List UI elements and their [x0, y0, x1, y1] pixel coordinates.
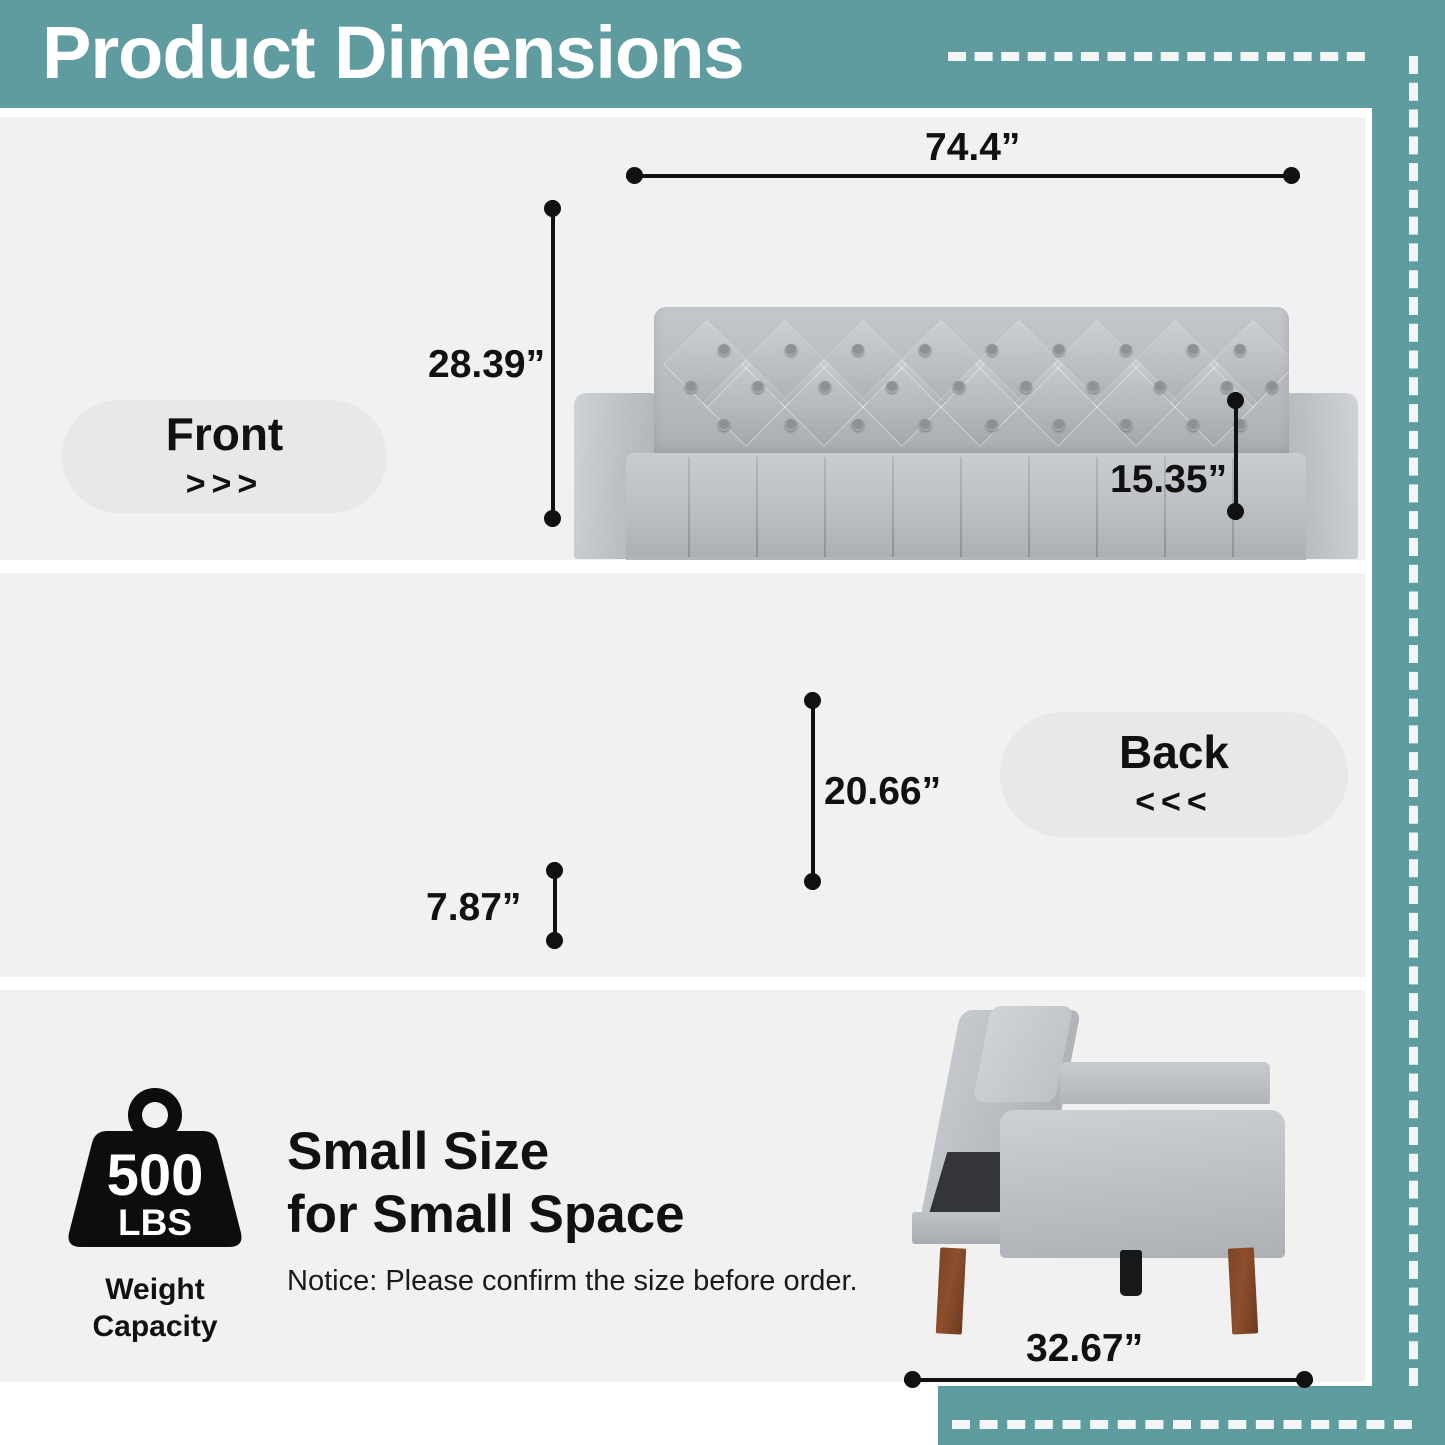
- weight-caption-line1: Weight: [55, 1271, 255, 1308]
- dimension-label-folded-height: 20.66”: [824, 770, 941, 814]
- weight-icon: 500 LBS: [55, 1085, 255, 1260]
- chevron-left-icon: <<<: [1135, 781, 1213, 823]
- sofa-side-back-rail: [1060, 1062, 1270, 1104]
- weight-caption-line2: Capacity: [55, 1308, 255, 1345]
- tufting-pattern: [654, 307, 1289, 457]
- weight-unit: LBS: [118, 1202, 192, 1243]
- chevron-right-icon: >>>: [186, 463, 264, 505]
- right-dashed-line: [1409, 56, 1418, 1386]
- dimension-line-seat-height: [1227, 392, 1244, 520]
- sofa-base-rail: [628, 557, 1304, 560]
- bottom-dashed-line: [952, 1420, 1412, 1429]
- bottom-accent-block: [938, 1386, 1445, 1445]
- weight-capacity-badge: 500 LBS Weight Capacity: [55, 1085, 270, 1345]
- dimension-line-folded-height: [804, 692, 821, 890]
- headline-line1: Small Size: [287, 1120, 858, 1183]
- sofa-backrest: [654, 307, 1289, 457]
- panel-back-view: Back <<<: [0, 573, 1365, 977]
- sofa-side-leg-left: [936, 1247, 966, 1334]
- dimension-label-seat-height: 15.35”: [1110, 458, 1227, 502]
- back-label-text: Back: [1119, 726, 1229, 778]
- sofa-side-low-base: [912, 1212, 1010, 1244]
- sofa-side-center-leg: [1120, 1250, 1142, 1296]
- panel-side-view: 500 LBS Weight Capacity Small Size for S…: [0, 990, 1365, 1382]
- sofa-side-leg-right: [1228, 1247, 1258, 1334]
- headline-block: Small Size for Small Space Notice: Pleas…: [287, 1120, 858, 1300]
- sofa-side-illustration: [882, 1000, 1302, 1350]
- dimension-label-depth: 32.67”: [1026, 1327, 1143, 1371]
- back-label-pill: Back <<<: [1000, 712, 1348, 837]
- sofa-side-arm: [1000, 1110, 1285, 1258]
- product-dimensions-infographic: Product Dimensions: [0, 0, 1445, 1445]
- header-dashed-line: [948, 52, 1418, 61]
- dimension-label-leg-height: 7.87”: [426, 886, 521, 930]
- front-label-text: Front: [166, 408, 284, 460]
- header-bar: Product Dimensions: [0, 0, 1445, 108]
- dimension-label-height: 28.39”: [428, 343, 545, 387]
- sofa-front-illustration: [566, 307, 1326, 560]
- dimension-line-depth: [904, 1371, 1313, 1388]
- dimension-line-leg-height: [546, 862, 563, 949]
- notice-text: Notice: Please confirm the size before o…: [287, 1262, 858, 1300]
- dimension-label-width: 74.4”: [925, 126, 1020, 170]
- page-title: Product Dimensions: [42, 8, 744, 98]
- weight-value: 500: [107, 1143, 204, 1208]
- dimension-line-height: [544, 200, 561, 527]
- front-label-pill: Front >>>: [62, 400, 387, 513]
- headline-line2: for Small Space: [287, 1183, 858, 1246]
